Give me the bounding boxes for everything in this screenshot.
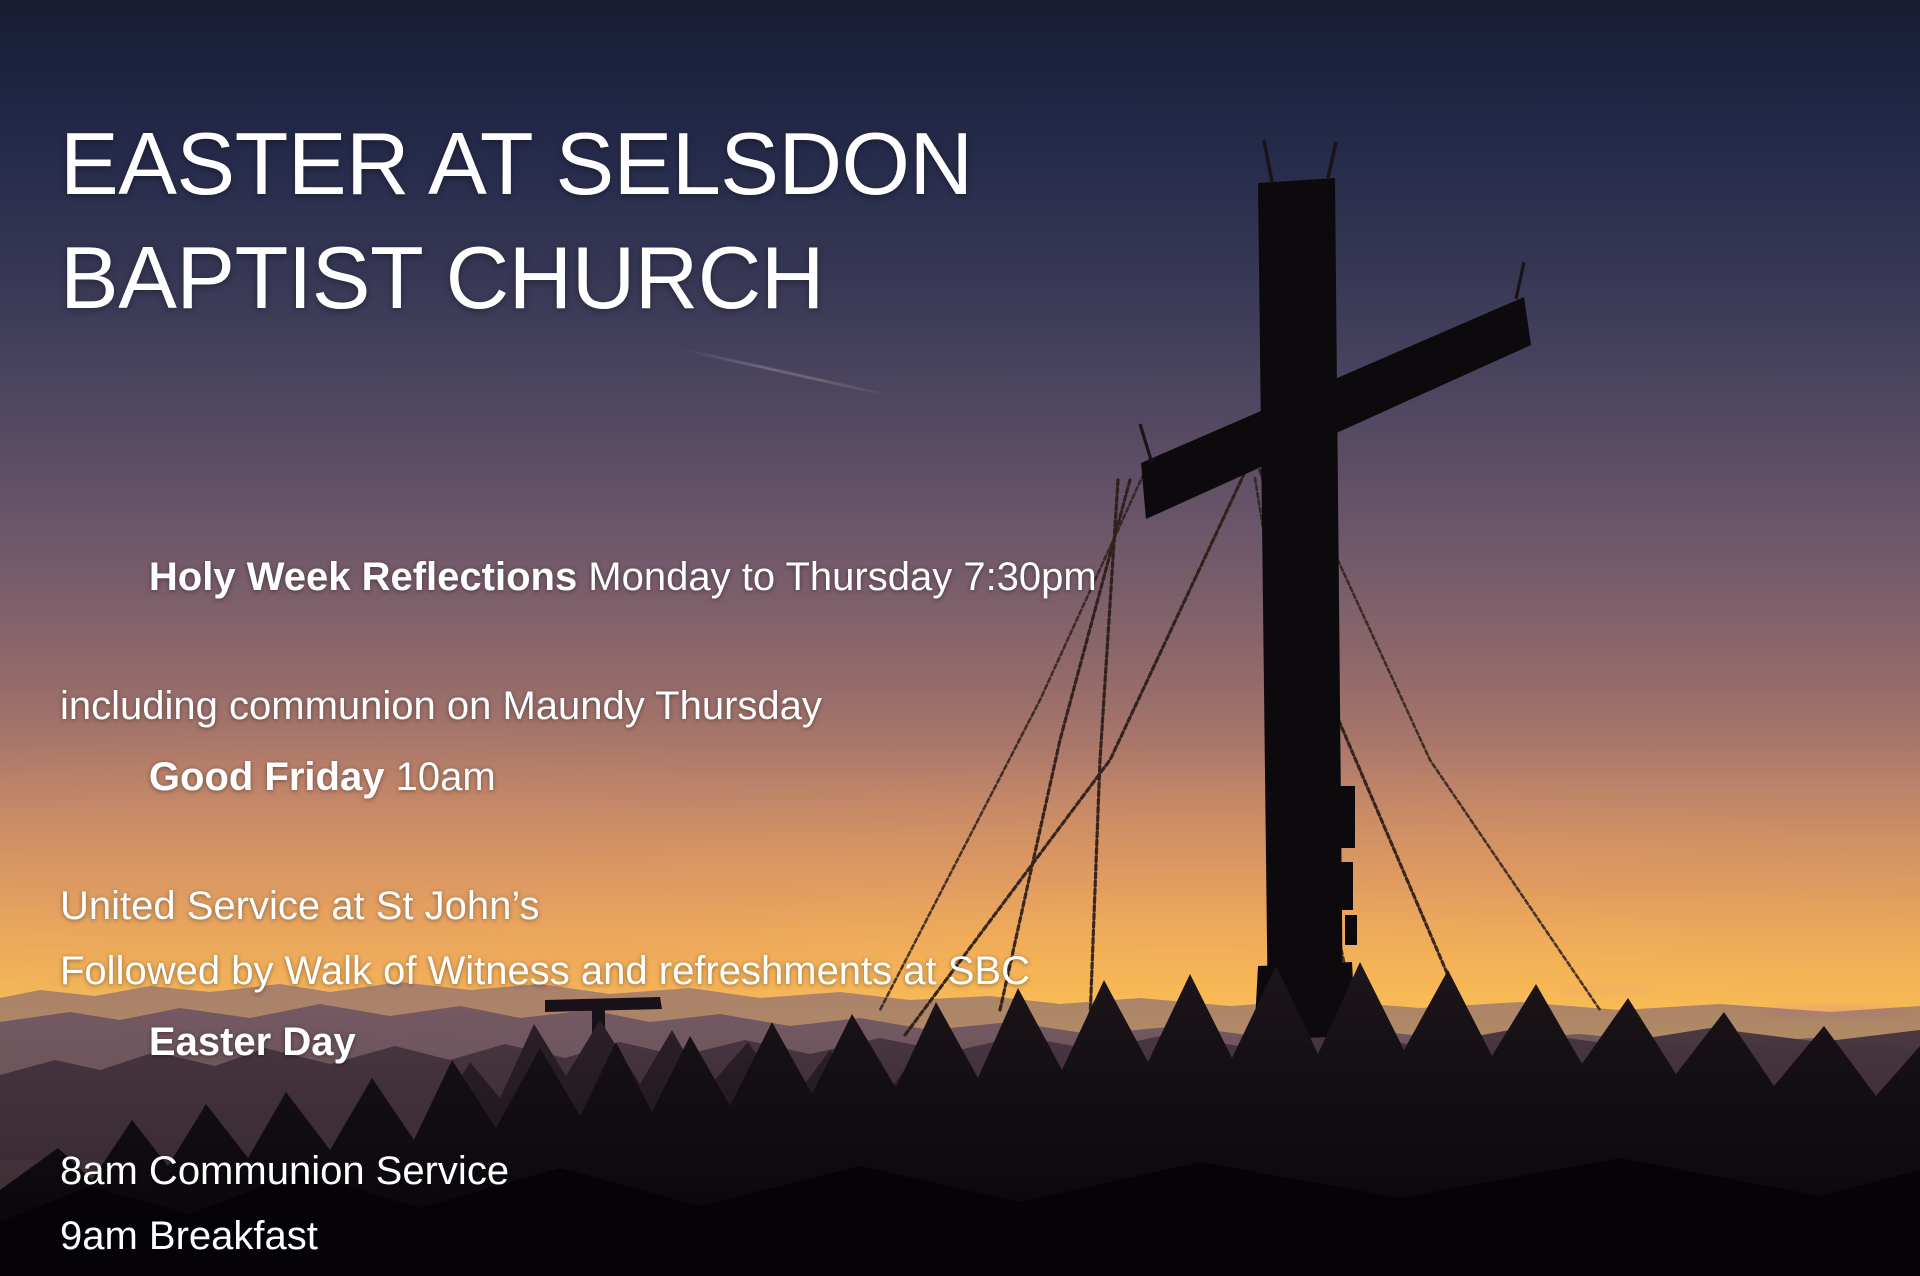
section-lead-label: Holy Week Reflections xyxy=(149,555,577,599)
section-detail-line: 9am Breakfast xyxy=(60,1204,709,1269)
section-heading-line: Holy Week Reflections Monday to Thursday… xyxy=(60,480,1097,674)
section-detail-line: 10:30am All Age Celebration Service xyxy=(60,1269,709,1276)
poster-text-layer: EASTER AT SELSDON BAPTIST CHURCH Holy We… xyxy=(0,0,1920,1276)
section-heading-line: Easter Day xyxy=(60,945,709,1139)
section-heading-line: Good Friday 10am xyxy=(60,680,1030,874)
section-lead-label: Easter Day xyxy=(149,1020,356,1064)
section-detail-line: 8am Communion Service xyxy=(60,1139,709,1204)
section-detail-line: United Service at St John’s xyxy=(60,874,1030,939)
section-easter-day: Easter Day 8am Communion Service 9am Bre… xyxy=(60,945,709,1276)
section-lead-rest: Monday to Thursday 7:30pm xyxy=(577,555,1097,599)
page-title: EASTER AT SELSDON BAPTIST CHURCH xyxy=(60,107,1060,336)
section-lead-label: Good Friday xyxy=(149,755,385,799)
easter-poster: EASTER AT SELSDON BAPTIST CHURCH Holy We… xyxy=(0,0,1920,1276)
section-lead-rest: 10am xyxy=(384,755,495,799)
